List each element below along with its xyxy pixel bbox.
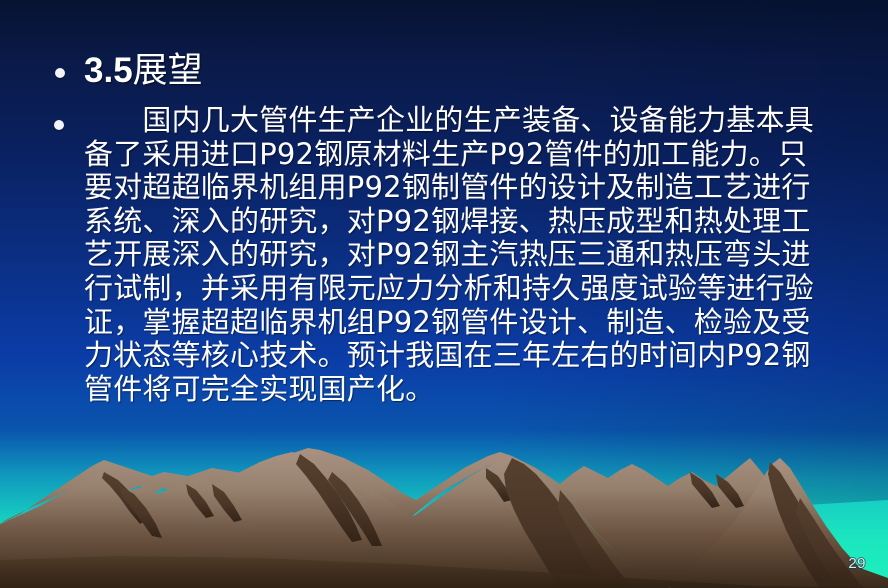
- slide-content: 3.5展望 国内几大管件生产企业的生产装备、设备能力基本具备了采用进口P92钢原…: [0, 0, 888, 470]
- title-bullet-icon: [55, 68, 65, 78]
- slide-title: 3.5展望: [84, 49, 203, 93]
- slide-number: 29: [848, 555, 866, 572]
- slide-body-paragraph: 国内几大管件生产企业的生产装备、设备能力基本具备了采用进口P92钢原材料生产P9…: [84, 104, 836, 406]
- title-label: 展望: [133, 51, 203, 91]
- body-bullet-icon: [54, 120, 64, 130]
- presentation-slide: 3.5展望 国内几大管件生产企业的生产装备、设备能力基本具备了采用进口P92钢原…: [0, 0, 888, 588]
- title-number: 3.5: [84, 51, 133, 90]
